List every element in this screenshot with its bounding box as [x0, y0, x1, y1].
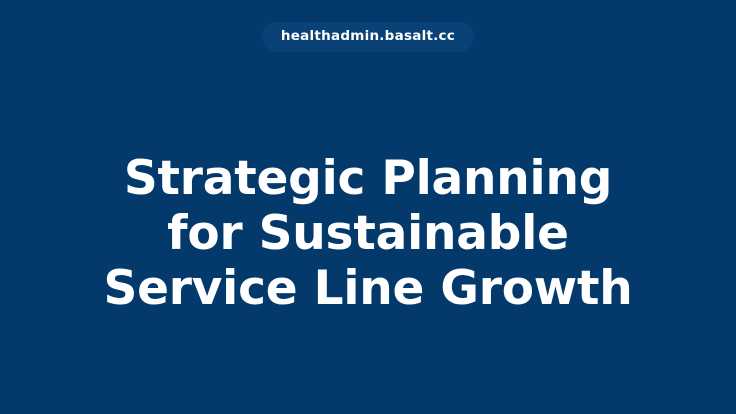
url-pill-label: healthadmin.basalt.cc: [281, 30, 455, 44]
url-pill[interactable]: healthadmin.basalt.cc: [262, 22, 474, 52]
headline-line-3: Service Line Growth: [0, 261, 736, 316]
url-badge-container: healthadmin.basalt.cc: [0, 22, 736, 52]
headline-line-2: for Sustainable: [0, 206, 736, 261]
title-slide: healthadmin.basalt.cc Strategic Planning…: [0, 0, 736, 414]
headline-line-1: Strategic Planning: [0, 151, 736, 206]
page-title: Strategic Planning for Sustainable Servi…: [0, 151, 736, 316]
